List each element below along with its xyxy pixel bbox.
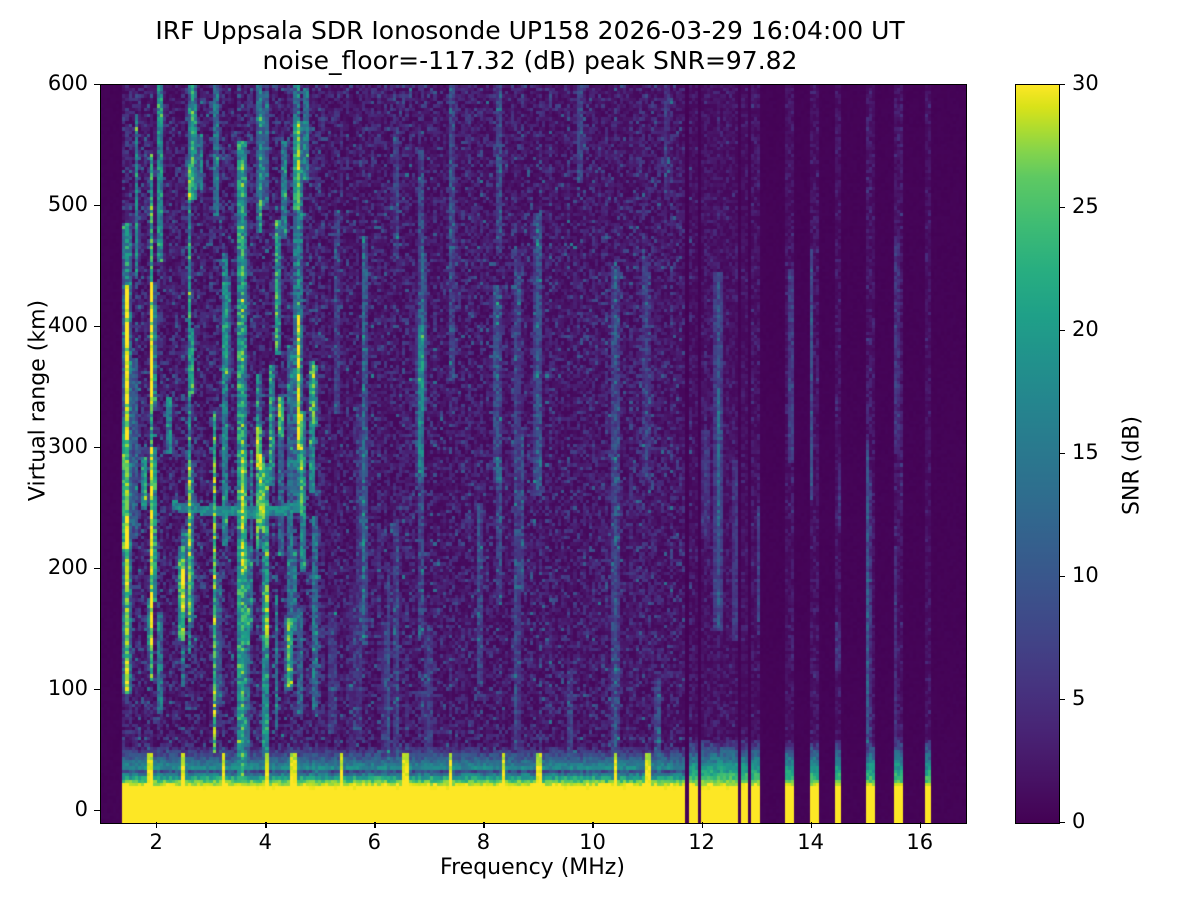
x-tick-label: 14 bbox=[781, 830, 841, 854]
colorbar-tick-label: 10 bbox=[1072, 563, 1099, 587]
chart-title: IRF Uppsala SDR Ionosonde UP158 2026-03-… bbox=[0, 16, 1060, 75]
x-tick-mark bbox=[592, 822, 593, 828]
colorbar-tick-label: 25 bbox=[1072, 194, 1099, 218]
y-tick-label: 600 bbox=[30, 71, 88, 95]
colorbar-tick-label: 5 bbox=[1072, 686, 1085, 710]
x-tick-label: 10 bbox=[562, 830, 622, 854]
x-tick-mark bbox=[702, 822, 703, 828]
colorbar-tick-label: 20 bbox=[1072, 317, 1099, 341]
x-tick-mark bbox=[265, 822, 266, 828]
x-tick-label: 6 bbox=[344, 830, 404, 854]
x-tick-label: 8 bbox=[453, 830, 513, 854]
y-tick-mark bbox=[94, 689, 100, 690]
colorbar-tick-label: 15 bbox=[1072, 440, 1099, 464]
y-tick-mark bbox=[94, 205, 100, 206]
title-line-1: IRF Uppsala SDR Ionosonde UP158 2026-03-… bbox=[0, 16, 1060, 46]
ionogram-heatmap-canvas bbox=[101, 85, 966, 823]
y-tick-mark bbox=[94, 84, 100, 85]
colorbar-tick-mark bbox=[1059, 699, 1065, 700]
colorbar-tick-mark bbox=[1059, 822, 1065, 823]
y-tick-mark bbox=[94, 810, 100, 811]
x-tick-label: 2 bbox=[126, 830, 186, 854]
colorbar-label: SNR (dB) bbox=[1120, 166, 1145, 766]
y-tick-mark bbox=[94, 326, 100, 327]
ionogram-figure: IRF Uppsala SDR Ionosonde UP158 2026-03-… bbox=[0, 0, 1200, 900]
colorbar-tick-label: 30 bbox=[1072, 71, 1099, 95]
x-tick-mark bbox=[374, 822, 375, 828]
y-tick-mark bbox=[94, 568, 100, 569]
x-tick-mark bbox=[483, 822, 484, 828]
colorbar-tick-mark bbox=[1059, 330, 1065, 331]
colorbar-tick-mark bbox=[1059, 453, 1065, 454]
colorbar-tick-label: 0 bbox=[1072, 809, 1085, 833]
snr-colorbar bbox=[1015, 84, 1060, 824]
colorbar-tick-mark bbox=[1059, 84, 1065, 85]
y-axis-label: Virtual range (km) bbox=[26, 101, 51, 701]
x-tick-label: 4 bbox=[235, 830, 295, 854]
x-tick-label: 12 bbox=[672, 830, 732, 854]
x-axis-label: Frequency (MHz) bbox=[100, 855, 965, 880]
x-tick-mark bbox=[920, 822, 921, 828]
x-tick-mark bbox=[811, 822, 812, 828]
x-tick-mark bbox=[156, 822, 157, 828]
colorbar-tick-mark bbox=[1059, 207, 1065, 208]
ionogram-plot-area bbox=[100, 84, 967, 824]
y-tick-label: 0 bbox=[30, 797, 88, 821]
colorbar-tick-mark bbox=[1059, 576, 1065, 577]
x-tick-label: 16 bbox=[890, 830, 950, 854]
title-line-2: noise_floor=-117.32 (dB) peak SNR=97.82 bbox=[0, 46, 1060, 76]
y-tick-mark bbox=[94, 447, 100, 448]
